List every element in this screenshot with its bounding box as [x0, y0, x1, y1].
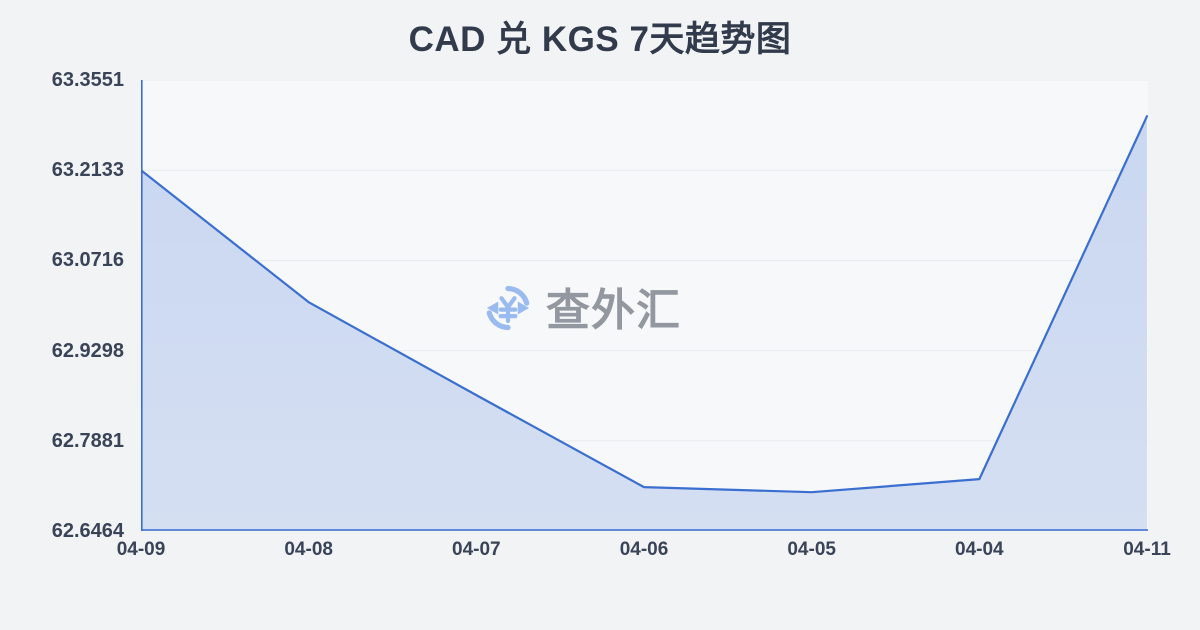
chart-container: CAD 兑 KGS 7天趋势图 62.646462.788162.929863.… [0, 0, 1200, 630]
x-axis-tick-label: 04-07 [452, 538, 501, 562]
y-axis-tick-label: 63.0716 [52, 249, 124, 271]
y-axis-tick-label: 62.9298 [52, 340, 124, 362]
y-axis-tick-label: 63.2133 [52, 159, 124, 181]
trend-line-chart-svg [141, 80, 1148, 531]
x-axis-tick-label: 04-05 [787, 538, 836, 562]
plot-area [141, 80, 1148, 531]
x-axis-tick-label: 04-08 [284, 538, 333, 562]
chart-title: CAD 兑 KGS 7天趋势图 [0, 18, 1200, 62]
x-axis-tick-label: 04-06 [620, 538, 669, 562]
x-axis-tick-label: 04-11 [1123, 538, 1171, 562]
x-axis-tick-label: 04-04 [955, 538, 1004, 562]
y-axis-tick-label: 63.3551 [52, 69, 124, 91]
y-axis-tick-label: 62.6464 [52, 520, 124, 542]
y-axis-tick-label: 62.7881 [52, 430, 124, 452]
x-axis-tick-label: 04-09 [117, 538, 166, 562]
